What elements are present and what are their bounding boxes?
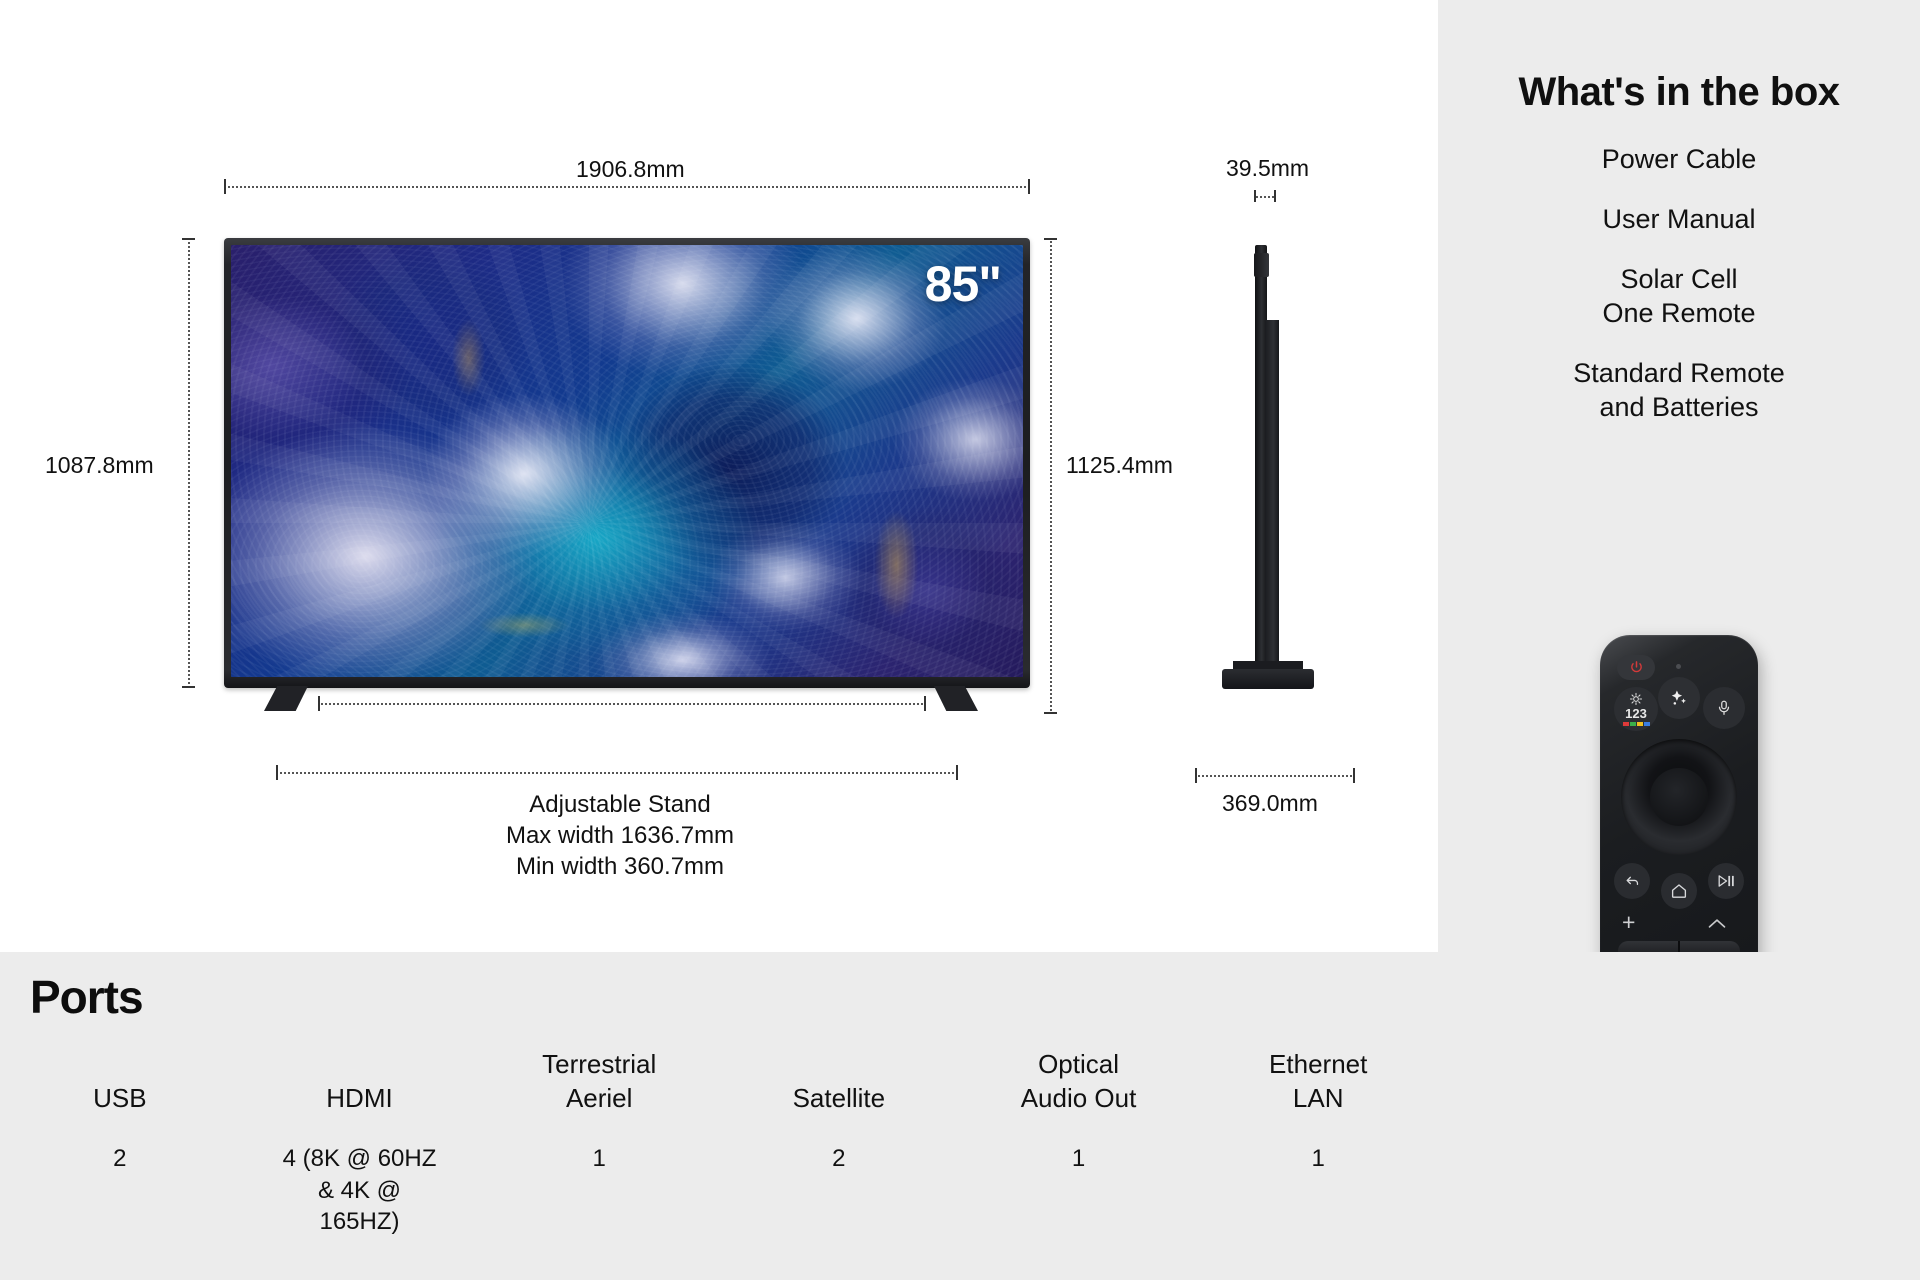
port-column: Terrestrial Aeriel 1: [479, 1047, 719, 1238]
panel-height-dimension-line: [188, 238, 190, 688]
power-button[interactable]: [1617, 655, 1655, 680]
ports-section: Ports USB 2 HDMI 4 (8K @ 60HZ & 4K @ 165…: [0, 952, 1920, 1280]
home-button[interactable]: [1661, 873, 1697, 909]
microphone-icon: [1715, 699, 1733, 717]
front-width-cap-right: [1028, 179, 1030, 194]
directional-pad[interactable]: [1621, 739, 1737, 855]
dimensions-panel: 1906.8mm 1087.8mm 1125.4mm Adjustable St…: [0, 0, 1438, 952]
tv-bezel: 85": [224, 238, 1030, 688]
box-item: Standard Remote and Batteries: [1438, 356, 1920, 424]
side-base-cap-left: [1195, 768, 1197, 783]
port-value: 2: [6, 1143, 234, 1175]
total-height-dimension-line: [1050, 238, 1052, 714]
total-height-cap-top: [1044, 238, 1057, 240]
whats-in-the-box-list: Power Cable User Manual Solar Cell One R…: [1438, 142, 1920, 424]
ir-led: [1676, 664, 1681, 669]
play-pause-icon: [1717, 873, 1736, 889]
side-base-cap-right: [1353, 768, 1355, 783]
front-width-label: 1906.8mm: [576, 156, 685, 183]
screen-size-badge: 85": [925, 255, 1001, 313]
panel-height-label: 1087.8mm: [45, 452, 154, 479]
nav-button-row: [1614, 863, 1744, 899]
front-width-dimension-line: [224, 186, 1030, 188]
channel-up-button[interactable]: [1707, 913, 1727, 936]
side-depth-label: 39.5mm: [1226, 155, 1309, 182]
tv-side-view: [1205, 245, 1325, 733]
port-value: 2: [725, 1143, 953, 1175]
product-spec-sheet: 1906.8mm 1087.8mm 1125.4mm Adjustable St…: [0, 0, 1920, 1280]
tv-screen-artwork: 85": [231, 245, 1023, 677]
total-height-cap-bottom: [1044, 712, 1057, 714]
numeric-label: 123: [1625, 707, 1647, 720]
tv-front-view: 85": [224, 238, 1030, 688]
stand-inner-cap-right: [924, 696, 926, 711]
port-value: 1: [1204, 1143, 1432, 1175]
side-top-bump: [1254, 253, 1269, 277]
stand-inner-dimension-line: [318, 703, 926, 705]
power-icon: [1629, 660, 1644, 675]
box-item: User Manual: [1438, 202, 1920, 236]
port-name: USB: [6, 1047, 234, 1115]
port-column: HDMI 4 (8K @ 60HZ & 4K @ 165HZ): [240, 1047, 480, 1238]
stand-max-width: Max width 1636.7mm: [420, 821, 820, 852]
box-item: Solar Cell One Remote: [1438, 262, 1920, 330]
front-width-cap-left: [224, 179, 226, 194]
port-value: 1: [485, 1143, 713, 1175]
volume-up-label[interactable]: +: [1622, 911, 1635, 934]
ports-title: Ports: [30, 970, 143, 1024]
port-name: Ethernet LAN: [1204, 1047, 1432, 1115]
side-base-depth-label: 369.0mm: [1222, 790, 1318, 817]
color-key-red: [1623, 722, 1629, 726]
stand-title: Adjustable Stand: [420, 790, 820, 821]
panel-height-cap-top: [182, 238, 195, 240]
voice-microphone-button[interactable]: [1703, 687, 1745, 729]
stand-min-width: Min width 360.7mm: [420, 852, 820, 883]
port-column: Optical Audio Out 1: [959, 1047, 1199, 1238]
color-key-yellow: [1637, 722, 1643, 726]
port-name: Satellite: [725, 1047, 953, 1115]
stand-outer-cap-left: [276, 765, 278, 780]
side-stand-neck: [1265, 320, 1279, 675]
port-value: 4 (8K @ 60HZ & 4K @ 165HZ): [246, 1143, 474, 1238]
ai-assistant-button[interactable]: [1658, 677, 1700, 719]
side-depth-cap-left: [1254, 190, 1256, 202]
port-column: Ethernet LAN 1: [1198, 1047, 1438, 1238]
color-key-blue: [1644, 722, 1650, 726]
stand-outer-dimension-line: [276, 772, 958, 774]
port-name: Optical Audio Out: [965, 1047, 1193, 1115]
side-depth-dimension-line: [1256, 196, 1274, 198]
home-icon: [1670, 882, 1688, 900]
back-arrow-icon: [1624, 873, 1641, 890]
port-column: Satellite 2: [719, 1047, 959, 1238]
ports-grid: USB 2 HDMI 4 (8K @ 60HZ & 4K @ 165HZ) Te…: [0, 1047, 1438, 1238]
color-key-green: [1630, 722, 1636, 726]
back-button[interactable]: [1614, 863, 1650, 899]
box-item: Power Cable: [1438, 142, 1920, 176]
port-column: USB 2: [0, 1047, 240, 1238]
panel-height-cap-bottom: [182, 686, 195, 688]
color-keys: [1623, 722, 1650, 726]
stand-inner-cap-left: [318, 696, 320, 711]
total-height-label: 1125.4mm: [1066, 452, 1173, 479]
tv-stand-foot-left: [264, 686, 308, 711]
play-pause-button[interactable]: [1708, 863, 1744, 899]
side-base-plate: [1222, 669, 1314, 689]
chevron-up-icon: [1707, 917, 1727, 930]
side-base-dimension-line: [1195, 775, 1355, 777]
whats-in-the-box-title: What's in the box: [1438, 70, 1920, 115]
port-name: Terrestrial Aeriel: [485, 1047, 713, 1115]
port-name: HDMI: [246, 1047, 474, 1115]
settings-gear-icon: [1629, 692, 1643, 706]
stand-outer-cap-right: [956, 765, 958, 780]
tv-stand-foot-right: [934, 686, 978, 711]
side-depth-cap-right: [1274, 190, 1276, 202]
numeric-keypad-button[interactable]: 123: [1614, 687, 1658, 731]
screen-gold-accents: [231, 245, 1023, 677]
port-value: 1: [965, 1143, 1193, 1175]
adjustable-stand-note: Adjustable Stand Max width 1636.7mm Min …: [420, 790, 820, 883]
sparkle-star-icon: [1669, 688, 1689, 708]
